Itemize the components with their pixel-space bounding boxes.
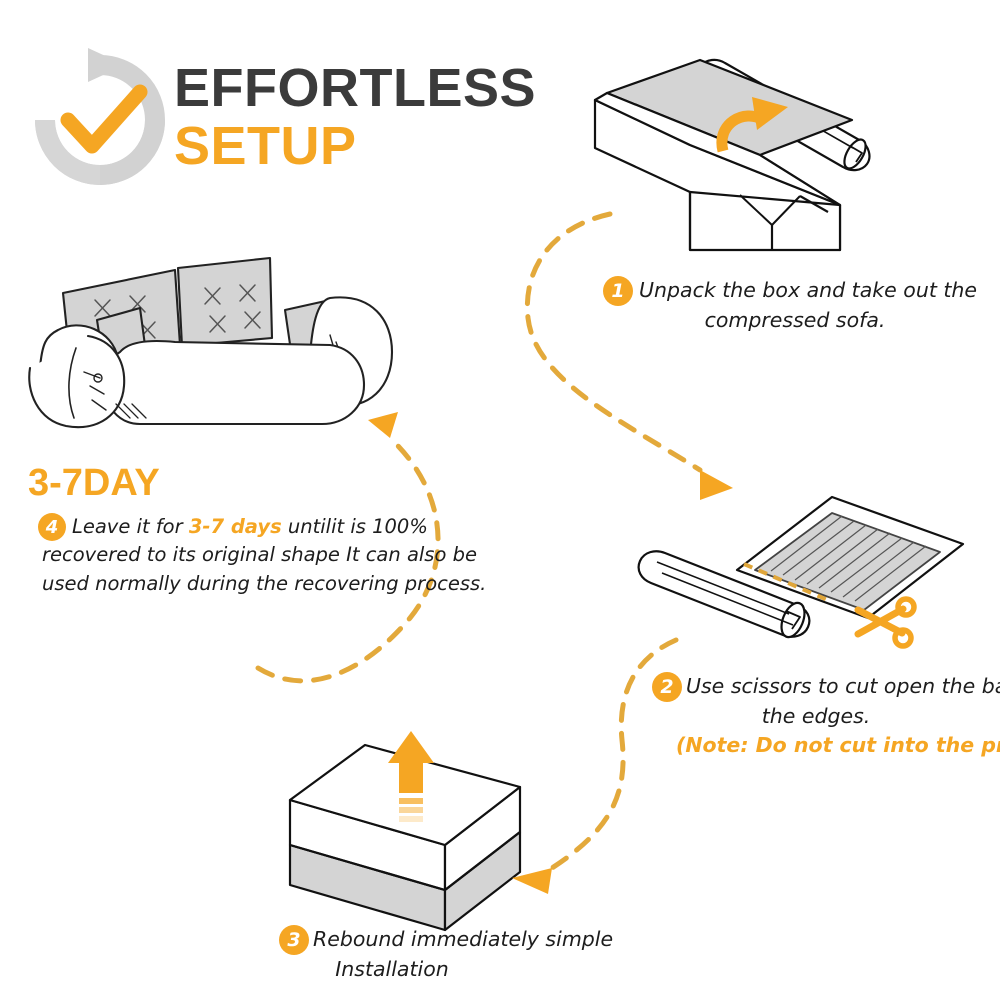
step3-line-1: Rebound immediately simple bbox=[313, 925, 563, 955]
illustration-bag-and-mattress bbox=[639, 497, 963, 646]
arrowhead-to-step2 bbox=[700, 470, 733, 500]
step1-line-2: compressed sofa. bbox=[611, 306, 979, 336]
step-caption-4: Leave it for 3-7 days untilit is 100% re… bbox=[72, 513, 432, 598]
logo-spacer bbox=[30, 52, 160, 182]
illustration-expanded-sofa bbox=[29, 258, 392, 427]
step2-line-2: the edges. bbox=[646, 702, 986, 732]
step-badge-3: 3 bbox=[279, 925, 309, 955]
step4-line-1: Leave it for 3-7 days untilit is 100% bbox=[72, 513, 432, 541]
step4-post: untilit is 100% bbox=[282, 515, 428, 538]
step-caption-1: Unpack the box and take out the compress… bbox=[639, 276, 979, 335]
duration-heading: 3-7DAY bbox=[28, 462, 160, 505]
page-title-line1: EFFORTLESS bbox=[174, 61, 536, 115]
infographic-canvas: EFFORTLESS SETUP 1 Unpack the box and ta… bbox=[0, 0, 1000, 1000]
step4-highlight: 3-7 days bbox=[189, 515, 282, 538]
step-caption-3: Rebound immediately simple Installation bbox=[313, 925, 563, 984]
step1-line-1: Unpack the box and take out the bbox=[639, 276, 979, 306]
step-caption-2: Use scissors to cut open the bag along t… bbox=[686, 672, 986, 761]
arrow-step1-to-step2 bbox=[527, 214, 700, 470]
arrowhead-to-step4 bbox=[368, 412, 398, 438]
step-badge-1: 1 bbox=[603, 276, 633, 306]
header: EFFORTLESS SETUP bbox=[30, 52, 536, 182]
step4-pre: Leave it for bbox=[72, 515, 189, 538]
step4-line-2: recovered to its original shape It can a… bbox=[42, 541, 432, 569]
illustration-box-and-roll bbox=[595, 60, 870, 250]
step2-line-1: Use scissors to cut open the bag along bbox=[686, 672, 986, 702]
step-badge-2: 2 bbox=[652, 672, 682, 702]
step3-line-2: Installation bbox=[221, 955, 563, 985]
step2-note: (Note: Do not cut into the products) bbox=[676, 731, 986, 761]
illustration-rebound-block bbox=[290, 731, 520, 930]
page-title-line2: SETUP bbox=[174, 119, 536, 173]
step4-line-3: used normally during the recovering proc… bbox=[42, 570, 432, 598]
step-badge-4: 4 bbox=[38, 513, 66, 541]
